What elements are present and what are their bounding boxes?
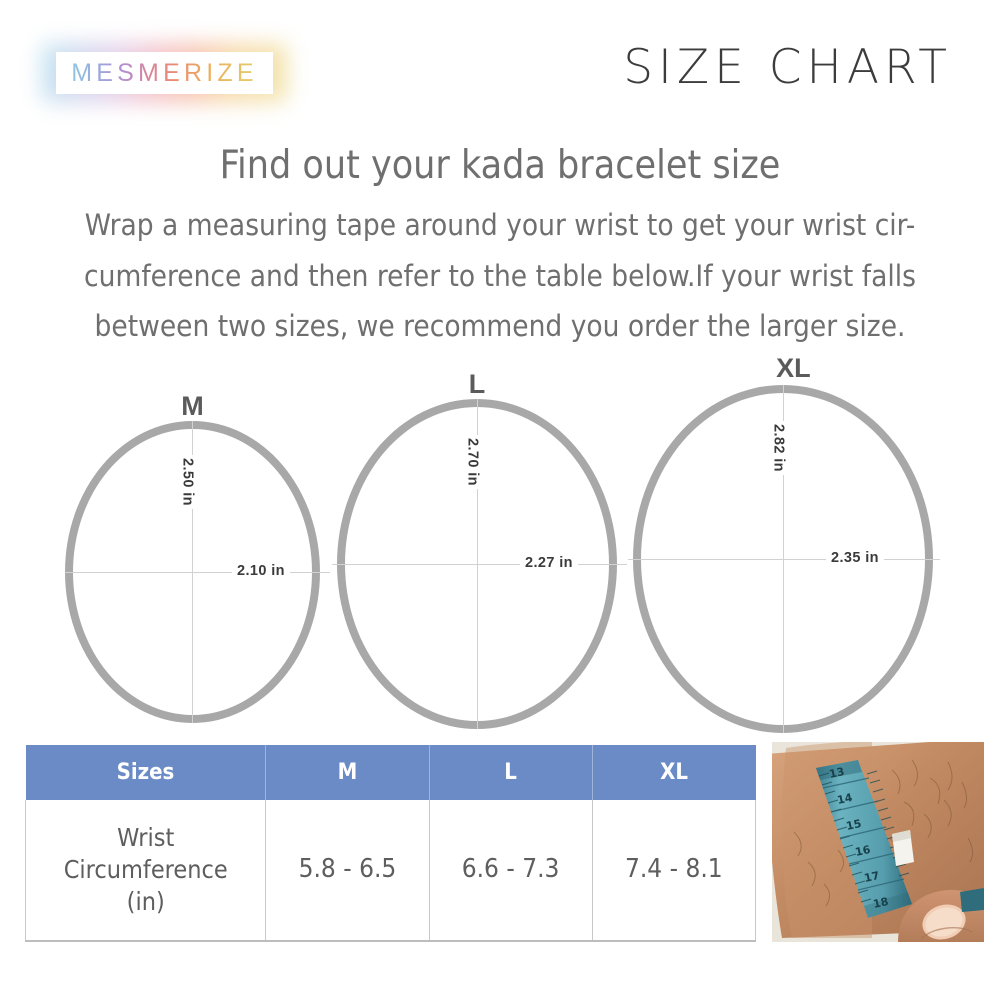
oval-width-label-xl: 2.35 in <box>826 551 884 566</box>
row-label-line-2: Circumference <box>30 854 261 886</box>
wrist-measurement-photo: 13 14 15 16 17 18 <box>772 742 984 942</box>
oval-height-label-m: 2.50 in <box>180 455 195 509</box>
table-cell-m: 5.8 - 6.5 <box>266 800 429 941</box>
oval-height-label-xl: 2.82 in <box>771 421 786 475</box>
intro-line-2: cumference and then refer to the table b… <box>50 251 950 302</box>
brand-logo: MESMERIZE <box>42 44 287 102</box>
size-table: Sizes M L XL Wrist Circumference (in) 5.… <box>25 745 756 942</box>
oval-label-xl: XL <box>776 355 811 382</box>
table-header-l: L <box>429 745 592 800</box>
intro-paragraph: Wrap a measuring tape around your wrist … <box>50 200 950 352</box>
logo-plate: MESMERIZE <box>56 52 273 94</box>
oval-diagram-m: M 2.50 in 2.10 in <box>60 393 325 723</box>
oval-width-label-l: 2.27 in <box>520 556 578 571</box>
oval-axis-horizontal-xl <box>628 559 940 560</box>
oval-height-label-l: 2.70 in <box>465 435 480 489</box>
oval-axis-horizontal-m <box>65 572 330 573</box>
oval-label-m: M <box>181 393 204 420</box>
page-title: SIZE CHART <box>623 44 952 91</box>
table-row: Wrist Circumference (in) 5.8 - 6.5 6.6 -… <box>26 800 756 941</box>
oval-diagrams: M 2.50 in 2.10 in L 2.70 in 2.27 in XL 2… <box>0 355 1000 745</box>
oval-width-label-m: 2.10 in <box>232 564 290 579</box>
intro-line-1: Wrap a measuring tape around your wrist … <box>50 200 950 251</box>
table-header-m: M <box>266 745 429 800</box>
oval-diagram-xl: XL 2.82 in 2.35 in <box>628 355 940 733</box>
table-header-xl: XL <box>592 745 755 800</box>
table-cell-xl: 7.4 - 8.1 <box>592 800 755 941</box>
brand-name: MESMERIZE <box>71 59 257 88</box>
intro-line-3: between two sizes, we recommend you orde… <box>50 301 950 352</box>
oval-axis-horizontal-l <box>332 564 627 565</box>
table-cell-l: 6.6 - 7.3 <box>429 800 592 941</box>
wrist-photo-illustration: 13 14 15 16 17 18 <box>772 742 984 942</box>
table-row-label: Wrist Circumference (in) <box>26 800 266 941</box>
intro-heading: Find out your kada bracelet size <box>0 144 1000 189</box>
table-header-row: Sizes M L XL <box>26 745 756 800</box>
oval-label-l: L <box>469 371 486 398</box>
row-label-line-1: Wrist <box>30 822 261 854</box>
oval-diagram-l: L 2.70 in 2.27 in <box>332 371 622 729</box>
table-header-sizes: Sizes <box>26 745 266 800</box>
row-label-line-3: (in) <box>30 886 261 918</box>
